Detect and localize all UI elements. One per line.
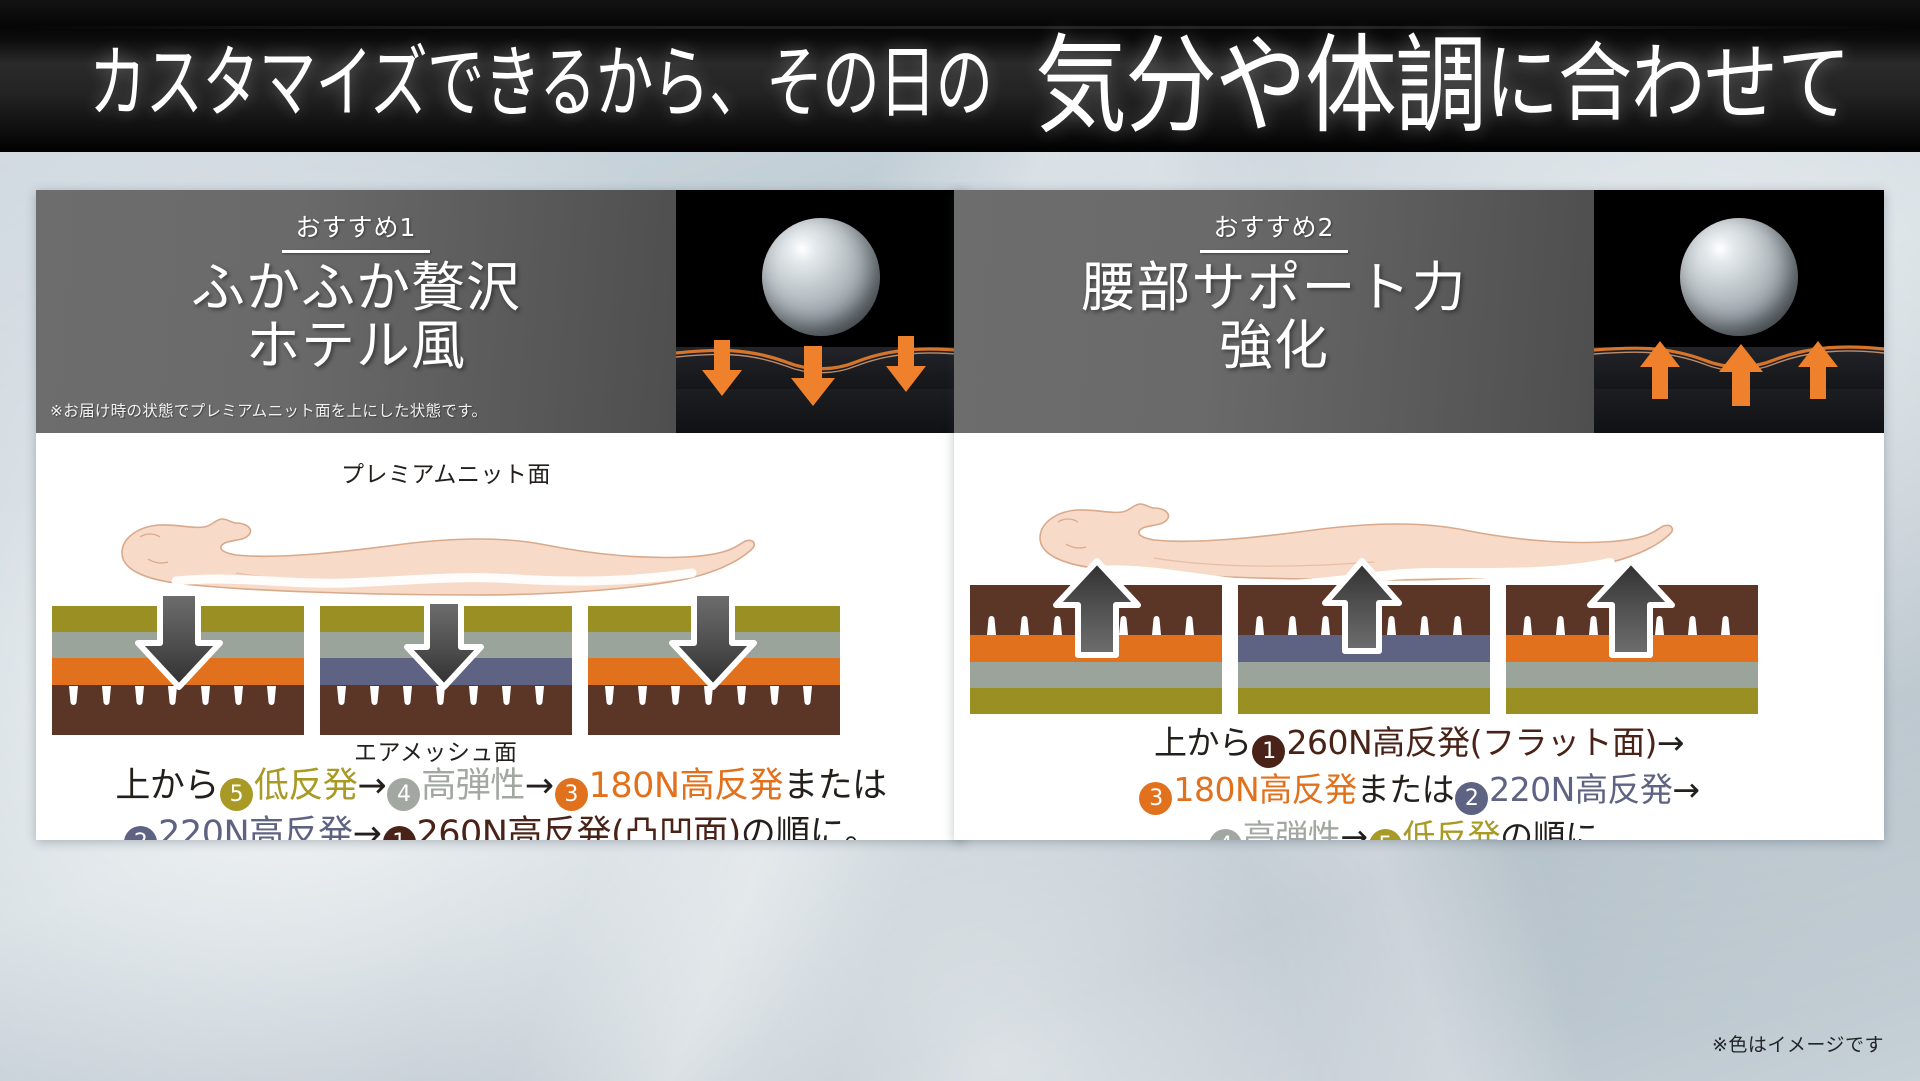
layer-number-badge-3: 3 <box>1139 782 1172 815</box>
order-plain-text: の順に。 <box>741 814 879 840</box>
card-1-title-line2: ホテル風 <box>246 314 466 377</box>
layer-number-badge-1: 1 <box>1252 735 1285 768</box>
card-2-badge: おすすめ2 <box>1214 208 1335 244</box>
footer-disclaimer: ※色はイメージです <box>1712 1030 1884 1057</box>
header-lead-text: カスタマイズできるから、その日の <box>89 19 992 134</box>
order-plain-text: または <box>1357 770 1455 809</box>
card-1-photo-overlay <box>676 190 966 433</box>
card-1-badge: おすすめ1 <box>296 208 417 244</box>
card-1-diagram-bottom-label: エアメッシュ面 <box>354 733 517 767</box>
card-2-diagram: 上から1260N高反発(フラット面)→3180N高反発または2220N高反発→4… <box>954 433 1884 840</box>
layer-number-badge-3: 3 <box>555 778 588 811</box>
order-plain-text: → <box>1340 817 1367 840</box>
order-line: 3180N高反発または2220N高反発→ <box>954 768 1884 815</box>
order-plain-text: または <box>783 766 887 806</box>
header-emphasis-tail: に合わせて <box>1485 14 1850 138</box>
order-line: 上から5低反発→4高弾性→3180N高反発または <box>36 763 966 811</box>
layer-number-badge-5: 5 <box>220 778 253 811</box>
person-figure-1 <box>122 519 754 595</box>
header-emphasis-text: 気分や体調 <box>1035 0 1485 152</box>
order-line: 2220N高反発→1260N高反発(凸凹面)の順に。 <box>36 811 966 840</box>
order-plain-text: 上から <box>1154 723 1252 762</box>
layer-name-4: 高弾性 <box>421 766 525 806</box>
layer-name-5: 低反発 <box>254 766 358 806</box>
card-2-photo <box>1594 190 1884 433</box>
layer-name-1: 260N高反発(凸凹面) <box>417 814 741 840</box>
layer-name-2: 220N高反発 <box>1489 770 1672 809</box>
layer-number-badge-5: 5 <box>1369 829 1402 840</box>
card-1-note: ※お届け時の状態でプレミアムニット面を上にした状態です。 <box>50 399 487 421</box>
layer-name-3: 180N高反発 <box>1173 770 1356 809</box>
order-line: 上から1260N高反発(フラット面)→ <box>954 721 1884 768</box>
card-1-photo <box>676 190 966 433</box>
layer-name-4: 高弾性 <box>1243 817 1341 840</box>
card-1-title: ふかふか贅沢 ホテル風 <box>191 259 521 376</box>
layer-number-badge-4: 4 <box>387 778 420 811</box>
order-plain-text: 上から <box>115 766 219 806</box>
order-line: 4高弾性→5低反発の順に。 <box>954 815 1884 840</box>
card-2-header: おすすめ2 腰部サポート力 強化 <box>954 190 1884 433</box>
card-1-title-line1: ふかふか贅沢 <box>191 256 521 319</box>
card-1-order-text: 上から5低反発→4高弾性→3180N高反発または2220N高反発→1260N高反… <box>36 763 966 840</box>
order-plain-text: → <box>1672 770 1699 809</box>
layer-number-badge-1: 1 <box>383 826 416 840</box>
order-plain-text: → <box>357 766 386 806</box>
card-1-down-arrows <box>702 336 926 406</box>
layer-name-5: 低反発 <box>1403 817 1501 840</box>
card-2-photo-overlay <box>1594 190 1884 433</box>
recommendation-card-2[interactable]: おすすめ2 腰部サポート力 強化 <box>954 190 1884 840</box>
layer-number-badge-2: 2 <box>1455 782 1488 815</box>
order-plain-text: → <box>353 814 382 840</box>
card-1-diagram: プレミアムニット面 <box>36 433 966 840</box>
header-banner: カスタマイズできるから、その日の 気分や体調 に合わせて <box>0 0 1920 152</box>
card-2-order-text: 上から1260N高反発(フラット面)→3180N高反発または2220N高反発→4… <box>954 721 1884 840</box>
card-2-title-line1: 腰部サポート力 <box>1082 256 1467 319</box>
card-2-badge-rule <box>1200 250 1348 253</box>
layer-name-3: 180N高反発 <box>589 766 784 806</box>
layer-number-badge-4: 4 <box>1209 829 1242 840</box>
order-plain-text: の順に。 <box>1500 817 1630 840</box>
layer-name-1: 260N高反発(フラット面) <box>1286 723 1656 762</box>
card-2-title: 腰部サポート力 強化 <box>1082 259 1467 376</box>
order-plain-text: → <box>1657 723 1684 762</box>
card-1-badge-rule <box>282 250 430 253</box>
layer-name-2: 220N高反発 <box>158 814 353 840</box>
order-plain-text: → <box>525 766 554 806</box>
card-1-diagram-top-label: プレミアムニット面 <box>341 455 551 489</box>
recommendation-card-1[interactable]: おすすめ1 ふかふか贅沢 ホテル風 ※お届け時の状態でプレミアムニット面を上にし… <box>36 190 966 840</box>
layer-number-badge-2: 2 <box>124 826 157 840</box>
card-2-title-line2: 強化 <box>1219 314 1329 377</box>
card-1-header: おすすめ1 ふかふか贅沢 ホテル風 ※お届け時の状態でプレミアムニット面を上にし… <box>36 190 966 433</box>
